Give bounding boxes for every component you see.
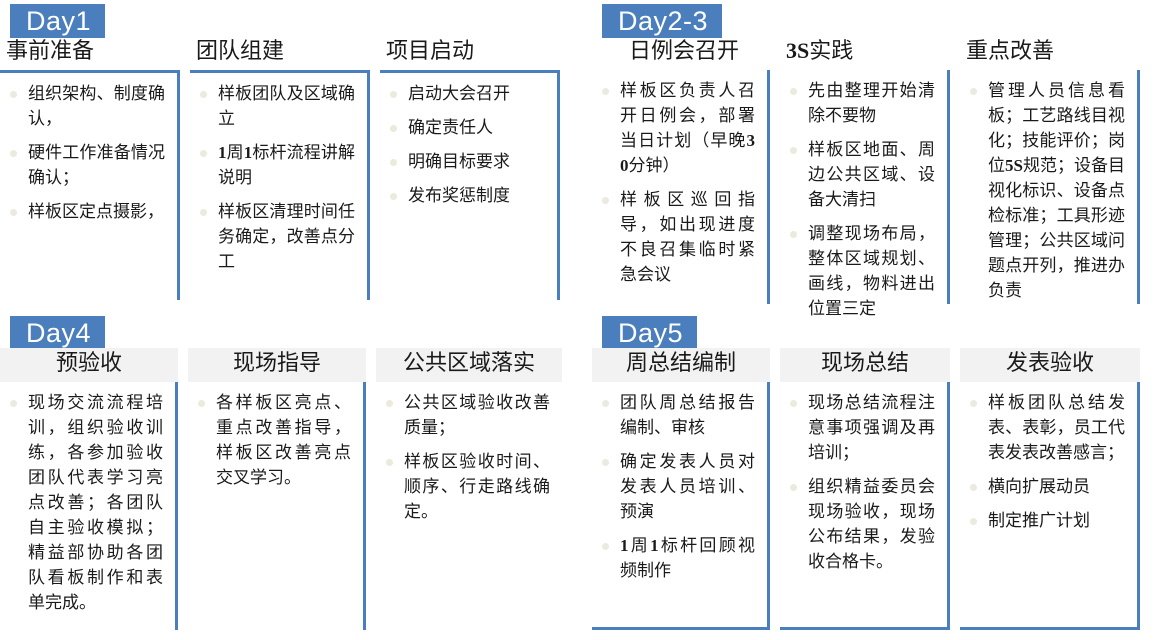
column-body: 公共区域验收改善质量； 样板区验收时间、顺序、行走路线确定。 <box>376 382 562 630</box>
bullet-list: 组织架构、制度确认， 硬件工作准备情况确认； 样板区定点摄影， <box>6 81 165 224</box>
column-body: 样板区负责人召开日例会，部署当日计划（早晚30分钟） 样板区巡回指导，如出现进度… <box>592 70 770 304</box>
day1-columns: 事前准备 组织架构、制度确认， 硬件工作准备情况确认； 样板区定点摄影， 团队组… <box>0 36 580 312</box>
bullet-list: 管理人员信息看板；工艺路线目视化；技能评价；岗位5S规范；设备目视化标识、设备点… <box>966 78 1125 303</box>
column-title: 公共区域落实 <box>376 348 562 382</box>
column-title: 发表验收 <box>960 348 1140 382</box>
column-day5-col3: 发表验收 样板团队总结发表、表彰，员工代表发表改善感言； 横向扩展动员 制定推广… <box>960 348 1140 640</box>
column-body: 先由整理开始清除不要物 样板区地面、周边公共区域、设备大清扫 调整现场布局，整体… <box>780 70 950 304</box>
list-item: 1周1标杆回顾视频制作 <box>598 533 755 583</box>
column-body: 各样板区亮点、重点改善指导，样板区改善亮点交叉学习。 <box>188 382 366 630</box>
bullet-list: 各样板区亮点、重点改善指导，样板区改善亮点交叉学习。 <box>194 390 351 490</box>
list-item: 样板区验收时间、顺序、行走路线确定。 <box>382 449 550 524</box>
five-day-plan-board: Day1 事前准备 组织架构、制度确认， 硬件工作准备情况确认； 样板区定点摄影… <box>0 0 1156 640</box>
section-day4: Day4 预验收 现场交流流程培训，组织验收训练，各参加验收团队代表学习亮点改善… <box>0 312 580 640</box>
list-item: 样板区清理时间任务确定，改善点分工 <box>196 199 355 274</box>
list-item: 现场总结流程注意事项强调及再培训； <box>786 390 935 465</box>
list-item: 启动大会召开 <box>386 81 545 106</box>
section-day5: Day5 周总结编制 团队周总结报告编制、审核 确定发表人员对发表人员培训、预演… <box>592 312 1156 640</box>
list-item: 各样板区亮点、重点改善指导，样板区改善亮点交叉学习。 <box>194 390 351 490</box>
list-item: 样板区地面、周边公共区域、设备大清扫 <box>786 137 935 212</box>
bullet-list: 样板区负责人召开日例会，部署当日计划（早晚30分钟） 样板区巡回指导，如出现进度… <box>598 78 755 287</box>
column-day5-col2: 现场总结 现场总结流程注意事项强调及再培训； 组织精益委员会现场验收，现场公布结… <box>780 348 950 640</box>
column-body: 组织架构、制度确认， 硬件工作准备情况确认； 样板区定点摄影， <box>0 70 180 300</box>
column-body: 样板团队及区域确立 1周1标杆流程讲解说明 样板区清理时间任务确定，改善点分工 <box>190 70 370 300</box>
column-title: 现场总结 <box>780 348 950 382</box>
day-badge-day1: Day1 <box>10 4 105 38</box>
bullet-list: 现场交流流程培训，组织验收训练，各参加验收团队代表学习亮点改善；各团队自主验收模… <box>6 390 163 615</box>
list-item: 调整现场布局，整体区域规划、画线，物料进出位置三定 <box>786 221 935 321</box>
bullet-list: 样板团队总结发表、表彰，员工代表发表改善感言； 横向扩展动员 制定推广计划 <box>966 390 1125 533</box>
column-body: 启动大会召开 确定责任人 明确目标要求 发布奖惩制度 <box>380 70 560 300</box>
column-title: 日例会召开 <box>592 36 770 70</box>
day-badge-day4: Day4 <box>10 316 105 350</box>
bullet-list: 样板团队及区域确立 1周1标杆流程讲解说明 样板区清理时间任务确定，改善点分工 <box>196 81 355 274</box>
column-title: 重点改善 <box>960 36 1140 70</box>
column-body: 现场交流流程培训，组织验收训练，各参加验收团队代表学习亮点改善；各团队自主验收模… <box>0 382 178 630</box>
column-day4-col1: 预验收 现场交流流程培训，组织验收训练，各参加验收团队代表学习亮点改善；各团队自… <box>0 348 178 640</box>
column-day1-col2: 团队组建 样板团队及区域确立 1周1标杆流程讲解说明 样板区清理时间任务确定，改… <box>190 36 370 312</box>
list-item: 样板区巡回指导，如出现进度不良召集临时紧急会议 <box>598 187 755 287</box>
column-day23-col2: 3S实践 先由整理开始清除不要物 样板区地面、周边公共区域、设备大清扫 调整现场… <box>780 36 950 312</box>
list-item: 样板团队及区域确立 <box>196 81 355 131</box>
day4-columns: 预验收 现场交流流程培训，组织验收训练，各参加验收团队代表学习亮点改善；各团队自… <box>0 348 580 640</box>
list-item: 团队周总结报告编制、审核 <box>598 390 755 440</box>
list-item: 管理人员信息看板；工艺路线目视化；技能评价；岗位5S规范；设备目视化标识、设备点… <box>966 78 1125 303</box>
section-day2-3: Day2-3 日例会召开 样板区负责人召开日例会，部署当日计划（早晚30分钟） … <box>592 0 1156 312</box>
column-day5-col1: 周总结编制 团队周总结报告编制、审核 确定发表人员对发表人员培训、预演 1周1标… <box>592 348 770 640</box>
list-item: 发布奖惩制度 <box>386 183 545 208</box>
list-item: 样板区负责人召开日例会，部署当日计划（早晚30分钟） <box>598 78 755 178</box>
list-item: 确定责任人 <box>386 115 545 140</box>
list-item: 先由整理开始清除不要物 <box>786 78 935 128</box>
list-item: 样板团队总结发表、表彰，员工代表发表改善感言； <box>966 390 1125 465</box>
bullet-list: 公共区域验收改善质量； 样板区验收时间、顺序、行走路线确定。 <box>382 390 550 524</box>
list-item: 组织架构、制度确认， <box>6 81 165 131</box>
column-body: 现场总结流程注意事项强调及再培训； 组织精益委员会现场验收，现场公布结果，发验收… <box>780 382 950 630</box>
column-day1-col1: 事前准备 组织架构、制度确认， 硬件工作准备情况确认； 样板区定点摄影， <box>0 36 180 312</box>
column-body: 样板团队总结发表、表彰，员工代表发表改善感言； 横向扩展动员 制定推广计划 <box>960 382 1140 630</box>
day2-3-columns: 日例会召开 样板区负责人召开日例会，部署当日计划（早晚30分钟） 样板区巡回指导… <box>592 36 1156 312</box>
list-item: 现场交流流程培训，组织验收训练，各参加验收团队代表学习亮点改善；各团队自主验收模… <box>6 390 163 615</box>
section-day1: Day1 事前准备 组织架构、制度确认， 硬件工作准备情况确认； 样板区定点摄影… <box>0 0 580 312</box>
list-item: 公共区域验收改善质量； <box>382 390 550 440</box>
column-day23-col3: 重点改善 管理人员信息看板；工艺路线目视化；技能评价；岗位5S规范；设备目视化标… <box>960 36 1140 312</box>
column-day1-col3: 项目启动 启动大会召开 确定责任人 明确目标要求 发布奖惩制度 <box>380 36 560 312</box>
column-day23-col1: 日例会召开 样板区负责人召开日例会，部署当日计划（早晚30分钟） 样板区巡回指导… <box>592 36 770 312</box>
list-item: 硬件工作准备情况确认； <box>6 140 165 190</box>
column-title: 事前准备 <box>0 36 180 70</box>
list-item: 制定推广计划 <box>966 508 1125 533</box>
column-day4-col2: 现场指导 各样板区亮点、重点改善指导，样板区改善亮点交叉学习。 <box>188 348 366 640</box>
day-badge-day5: Day5 <box>602 316 697 350</box>
column-body: 团队周总结报告编制、审核 确定发表人员对发表人员培训、预演 1周1标杆回顾视频制… <box>592 382 770 630</box>
column-title: 团队组建 <box>190 36 370 70</box>
list-item: 样板区定点摄影， <box>6 199 165 224</box>
bullet-list: 启动大会召开 确定责任人 明确目标要求 发布奖惩制度 <box>386 81 545 208</box>
column-title: 现场指导 <box>188 348 366 382</box>
list-item: 1周1标杆流程讲解说明 <box>196 140 355 190</box>
column-title: 项目启动 <box>380 36 560 70</box>
column-title: 3S实践 <box>780 36 950 70</box>
bullet-list: 团队周总结报告编制、审核 确定发表人员对发表人员培训、预演 1周1标杆回顾视频制… <box>598 390 755 583</box>
column-day4-col3: 公共区域落实 公共区域验收改善质量； 样板区验收时间、顺序、行走路线确定。 <box>376 348 562 640</box>
list-item: 组织精益委员会现场验收，现场公布结果，发验收合格卡。 <box>786 474 935 574</box>
list-item: 确定发表人员对发表人员培训、预演 <box>598 449 755 524</box>
column-title: 周总结编制 <box>592 348 770 382</box>
column-title: 预验收 <box>0 348 178 382</box>
list-item: 横向扩展动员 <box>966 474 1125 499</box>
bullet-list: 先由整理开始清除不要物 样板区地面、周边公共区域、设备大清扫 调整现场布局，整体… <box>786 78 935 321</box>
day5-columns: 周总结编制 团队周总结报告编制、审核 确定发表人员对发表人员培训、预演 1周1标… <box>592 348 1156 640</box>
column-body: 管理人员信息看板；工艺路线目视化；技能评价；岗位5S规范；设备目视化标识、设备点… <box>960 70 1140 304</box>
bullet-list: 现场总结流程注意事项强调及再培训； 组织精益委员会现场验收，现场公布结果，发验收… <box>786 390 935 574</box>
day-badge-day2-3: Day2-3 <box>602 4 722 38</box>
list-item: 明确目标要求 <box>386 149 545 174</box>
